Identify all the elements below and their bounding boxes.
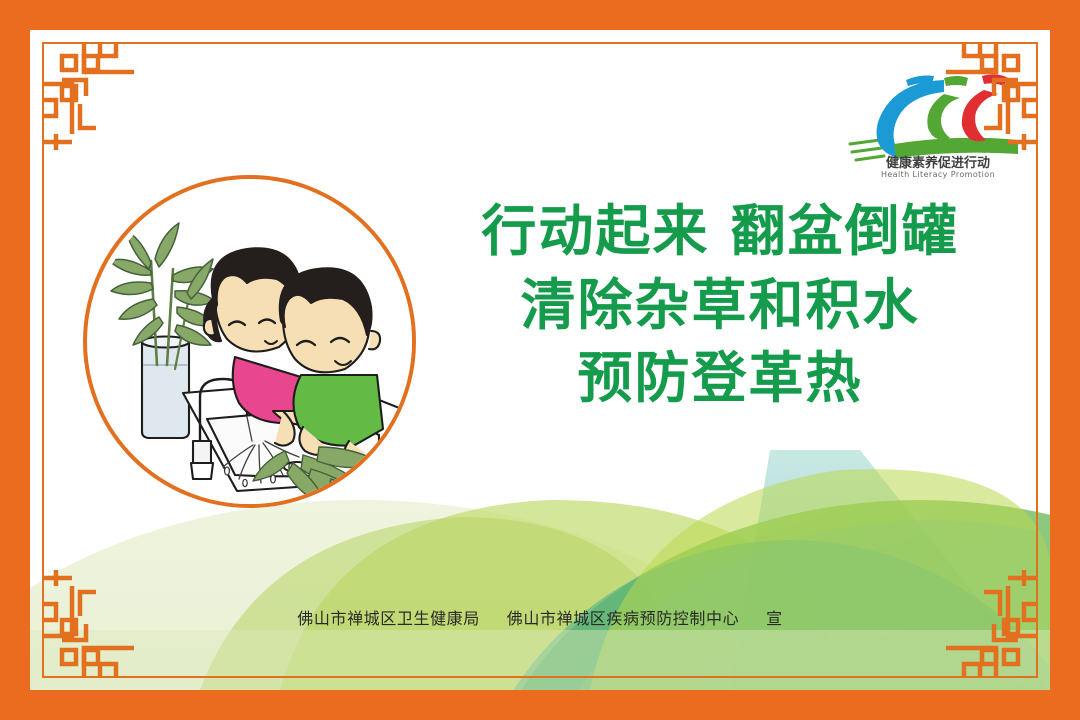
chinese-fret-corner-icon (920, 42, 1038, 160)
poster-panel: 行动起来 翻盆倒罐 清除杂草和积水 预防登革热 (30, 30, 1050, 690)
footer-attribution: 佛山市禅城区卫生健康局 佛山市禅城区疾病预防控制中心 宣 (30, 605, 1050, 629)
footer-suffix: 宣 (766, 605, 783, 629)
headline-line-1: 行动起来 翻盆倒罐 (430, 195, 1010, 269)
corner-ornament-bottom-right (920, 560, 1038, 678)
illustration-artwork (87, 179, 416, 508)
arc-bottom-wash (30, 630, 1050, 690)
poster-root: 行动起来 翻盆倒罐 清除杂草和积水 预防登革热 (0, 0, 1080, 720)
chinese-fret-corner-icon (42, 560, 160, 678)
corner-ornament-top-right (920, 42, 1038, 160)
headline-block: 行动起来 翻盆倒罐 清除杂草和积水 预防登革热 (430, 195, 1010, 416)
illustration-circle (83, 175, 416, 508)
chinese-fret-corner-icon (42, 42, 160, 160)
footer-org-2: 佛山市禅城区疾病预防控制中心 (507, 605, 739, 629)
corner-ornament-top-left (42, 42, 160, 160)
chinese-fret-corner-icon (920, 560, 1038, 678)
logo-english-name: Health Literacy Promotion (881, 170, 995, 179)
headline-line-3: 预防登革热 (430, 342, 1010, 416)
corner-ornament-bottom-left (42, 560, 160, 678)
headline-line-2: 清除杂草和积水 (430, 269, 1010, 343)
footer-org-1: 佛山市禅城区卫生健康局 (297, 605, 480, 629)
